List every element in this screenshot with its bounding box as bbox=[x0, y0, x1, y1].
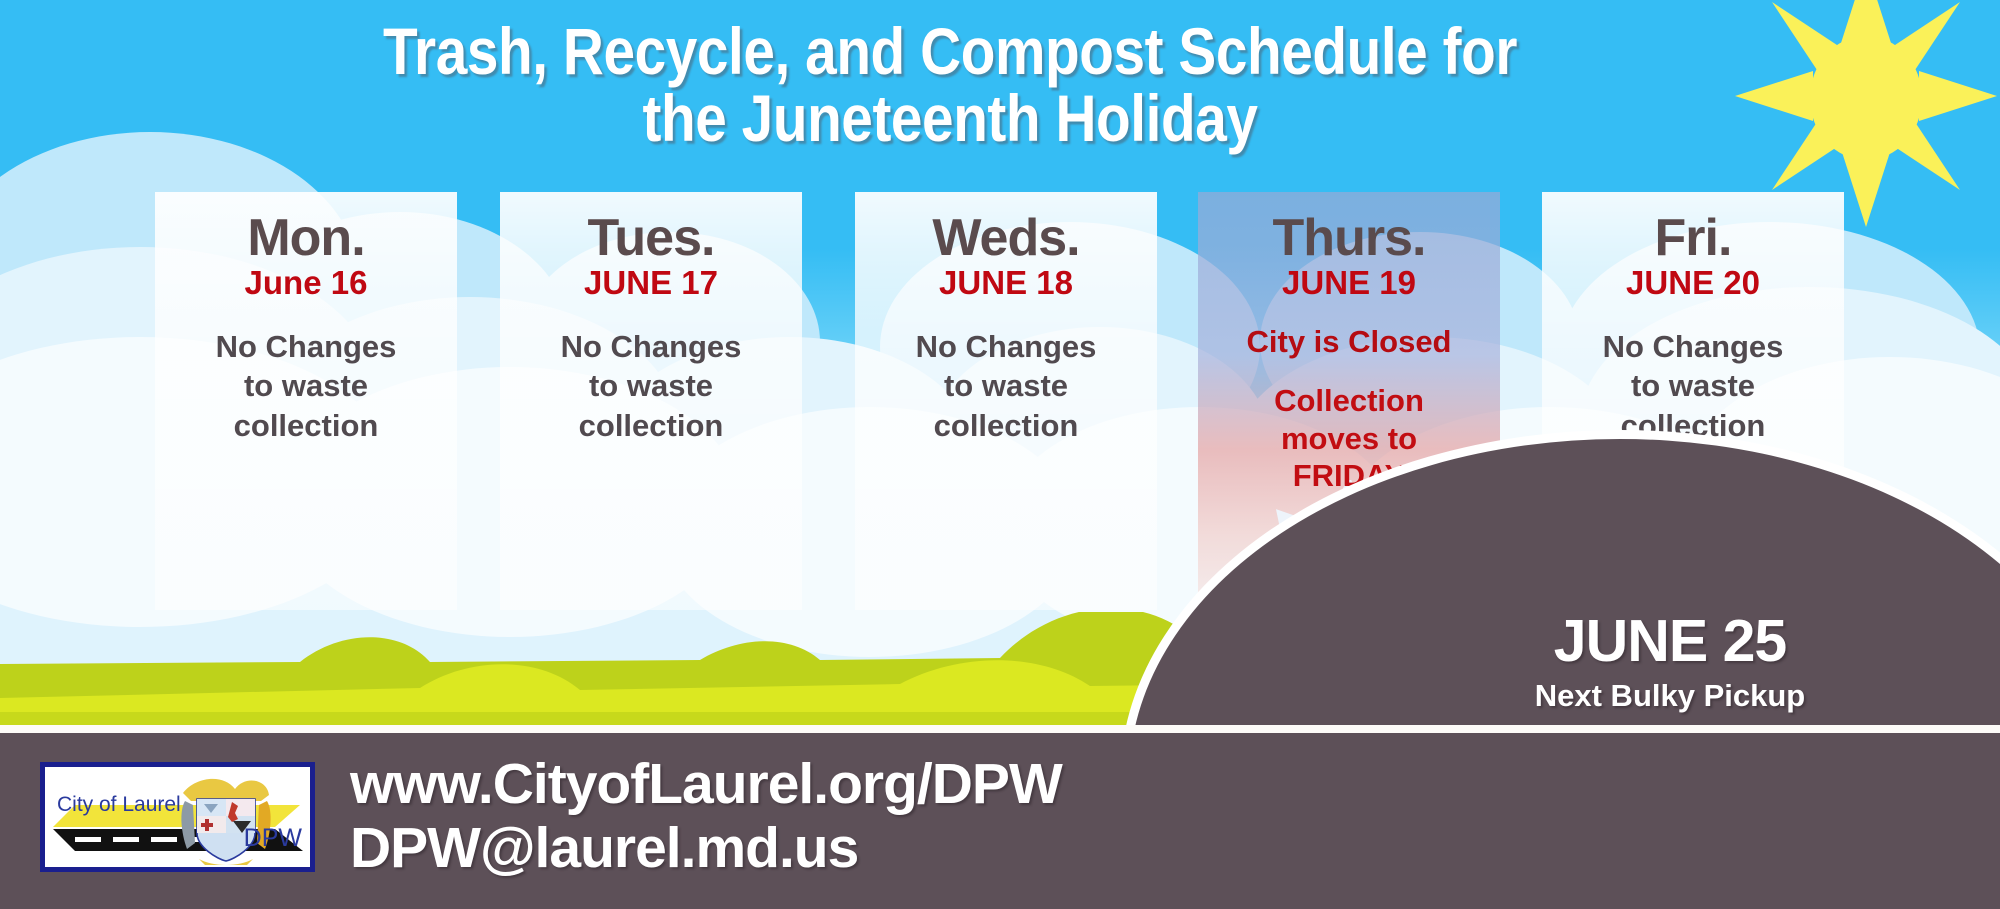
day-date: JUNE 20 bbox=[1542, 266, 1844, 301]
note-line: collection bbox=[500, 406, 802, 446]
day-note: No Changes to waste collection bbox=[155, 327, 457, 446]
day-name: Weds. bbox=[855, 212, 1157, 264]
day-date: JUNE 18 bbox=[855, 266, 1157, 301]
note-line: to waste bbox=[855, 366, 1157, 406]
day-card-wednesday[interactable]: Weds. JUNE 18 No Changes to waste collec… bbox=[855, 192, 1157, 610]
contact-info: www.CityofLaurel.org/DPW DPW@laurel.md.u… bbox=[350, 752, 1062, 881]
day-date: JUNE 19 bbox=[1198, 266, 1500, 301]
bulky-date: JUNE 25 bbox=[1460, 612, 1880, 671]
moves-line: Collection bbox=[1198, 382, 1500, 420]
footer-divider bbox=[0, 725, 2000, 733]
email-link[interactable]: DPW@laurel.md.us bbox=[350, 816, 1062, 880]
note-line: No Changes bbox=[155, 327, 457, 367]
day-name: Mon. bbox=[155, 212, 457, 264]
logo-city-label: City of Laurel bbox=[57, 793, 181, 817]
day-note: No Changes to waste collection bbox=[855, 327, 1157, 446]
city-closed-label: City is Closed bbox=[1198, 323, 1500, 360]
note-line: collection bbox=[855, 406, 1157, 446]
note-line: No Changes bbox=[1542, 327, 1844, 367]
note-line: No Changes bbox=[855, 327, 1157, 367]
title-line-2: the Juneteenth Holiday bbox=[279, 85, 1621, 152]
logo-dept-label: DPW bbox=[244, 824, 302, 853]
day-date: JUNE 17 bbox=[500, 266, 802, 301]
note-line: No Changes bbox=[500, 327, 802, 367]
note-line: to waste bbox=[1542, 366, 1844, 406]
day-name: Tues. bbox=[500, 212, 802, 264]
note-line: collection bbox=[155, 406, 457, 446]
note-line: to waste bbox=[155, 366, 457, 406]
website-link[interactable]: www.CityofLaurel.org/DPW bbox=[350, 752, 1062, 816]
day-note: No Changes to waste collection bbox=[500, 327, 802, 446]
page-title: Trash, Recycle, and Compost Schedule for… bbox=[279, 18, 1621, 153]
title-line-1: Trash, Recycle, and Compost Schedule for bbox=[279, 18, 1621, 85]
day-note: No Changes to waste collection bbox=[1542, 327, 1844, 446]
day-card-tuesday[interactable]: Tues. JUNE 17 No Changes to waste collec… bbox=[500, 192, 802, 610]
day-name: Fri. bbox=[1542, 212, 1844, 264]
bulky-line-1: Next Bulky Pickup bbox=[1460, 677, 1880, 715]
day-date: June 16 bbox=[155, 266, 457, 301]
city-of-laurel-dpw-logo: City of Laurel DPW bbox=[40, 762, 315, 872]
note-line: to waste bbox=[500, 366, 802, 406]
poster-canvas: Trash, Recycle, and Compost Schedule for… bbox=[0, 0, 2000, 909]
day-name: Thurs. bbox=[1198, 212, 1500, 264]
day-card-monday[interactable]: Mon. June 16 No Changes to waste collect… bbox=[155, 192, 457, 610]
